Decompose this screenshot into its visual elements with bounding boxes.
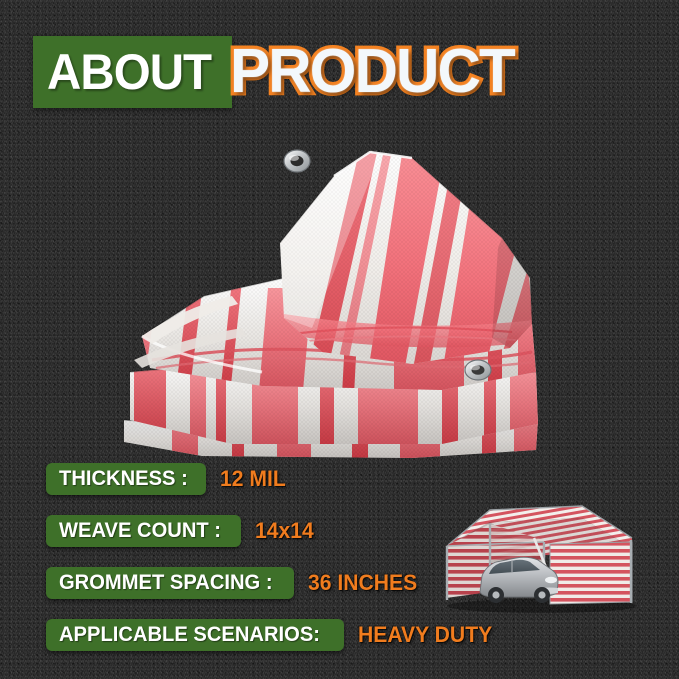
grommet-icon-right — [465, 360, 491, 380]
spec-label-badge: THICKNESS : — [46, 463, 206, 495]
spec-row-applicable-scenarios: APPLICABLE SCENARIOS: HEAVY DUTY — [46, 616, 646, 654]
about-title-block: ABOUT — [33, 36, 232, 108]
spec-label-thickness: THICKNESS : — [59, 467, 188, 490]
spec-value-weave-count: 14x14 — [255, 518, 314, 544]
spec-label-applicable-scenarios: APPLICABLE SCENARIOS: — [59, 623, 320, 646]
product-photo-folded-tarp — [112, 128, 552, 458]
spec-label-badge: WEAVE COUNT : — [46, 515, 241, 547]
page-header: ABOUT PRODUCT — [33, 34, 522, 110]
spec-row-grommet-spacing: GROMMET SPACING : 36 INCHES — [46, 564, 646, 602]
spec-label-grommet-spacing: GROMMET SPACING : — [59, 571, 273, 594]
spec-value-applicable-scenarios: HEAVY DUTY — [358, 622, 492, 648]
spec-row-thickness: THICKNESS : 12 MIL — [46, 460, 646, 498]
spec-label-weave-count: WEAVE COUNT : — [59, 519, 221, 542]
spec-label-badge: APPLICABLE SCENARIOS: — [46, 619, 344, 651]
infographic-canvas: ABOUT PRODUCT — [0, 0, 679, 679]
tarp-fold-top — [272, 148, 552, 378]
spec-value-thickness: 12 MIL — [220, 466, 286, 492]
header-title-about: ABOUT — [47, 47, 211, 97]
spec-row-weave-count: WEAVE COUNT : 14x14 — [46, 512, 646, 550]
spec-label-badge: GROMMET SPACING : — [46, 567, 294, 599]
spec-value-grommet-spacing: 36 INCHES — [308, 570, 417, 596]
specification-list: THICKNESS : 12 MIL WEAVE COUNT : 14x14 G… — [46, 460, 646, 668]
grommet-icon-top — [284, 150, 310, 172]
header-title-product: PRODUCT — [230, 41, 514, 103]
